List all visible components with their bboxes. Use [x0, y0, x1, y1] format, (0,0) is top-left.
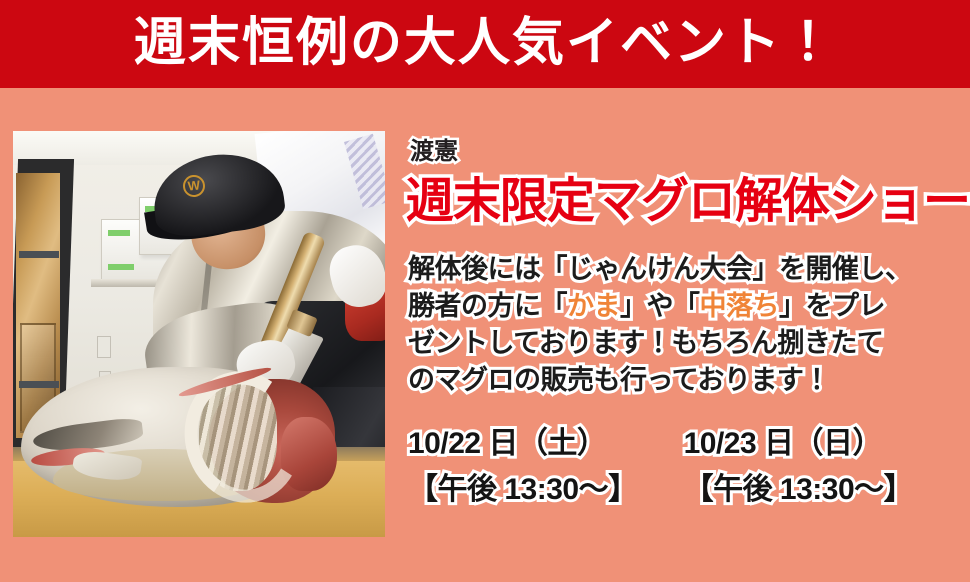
event-time: 【午後 13:30〜】 [408, 467, 638, 513]
panel-green-label-1 [108, 230, 130, 236]
event-dates: 10/22 日（土）【午後 13:30〜】10/23 日（日）【午後 13:30… [408, 421, 966, 513]
description-line: ゼントしております！もちろん捌きたて [408, 325, 966, 362]
banner-title: 週末恒例の大人気イベント！ [134, 17, 836, 69]
highlight-term: 中落ち [700, 291, 780, 321]
date-block: 10/22 日（土）【午後 13:30〜】 [408, 421, 638, 513]
description-text: 」や「 [620, 291, 700, 321]
event-date: 10/23 日（日） [684, 421, 914, 467]
description-text: 」をプレ [779, 291, 885, 321]
event-description: 解体後には「じゃんけん大会」を開催し、勝者の方に「かま」や「中落ち」をプレゼント… [408, 251, 966, 399]
description-text: 解体後には「じゃんけん大会」を開催し、 [408, 254, 912, 284]
date-block: 10/23 日（日）【午後 13:30〜】 [684, 421, 914, 513]
door-crossbar-lower [19, 381, 59, 388]
description-text: のマグロの販売も行っております！ [408, 365, 830, 395]
promo-poster: 週末恒例の大人気イベント！ [0, 0, 970, 582]
brand-name: 渡憲 [410, 140, 966, 164]
wall-switch-upper [97, 336, 111, 358]
door-crossbar-upper [19, 251, 59, 258]
event-title: 週末限定マグロ解体ショー [406, 178, 966, 226]
tuna-cutting-photo: W [13, 131, 385, 537]
description-text: ゼントしております！もちろん捌きたて [408, 328, 883, 358]
description-line: のマグロの販売も行っております！ [408, 362, 966, 399]
description-line: 勝者の方に「かま」や「中落ち」をプレ [408, 288, 966, 325]
description-line: 解体後には「じゃんけん大会」を開催し、 [408, 251, 966, 288]
description-text: 勝者の方に「 [408, 291, 567, 321]
event-time: 【午後 13:30〜】 [684, 467, 914, 513]
panel-green-label-2 [108, 264, 134, 270]
info-column: 渡憲 週末限定マグロ解体ショー 解体後には「じゃんけん大会」を開催し、勝者の方に… [406, 131, 966, 513]
event-date: 10/22 日（土） [408, 421, 638, 467]
plastic-pattern [344, 134, 385, 210]
highlight-term: かま [567, 291, 620, 321]
header-banner: 週末恒例の大人気イベント！ [0, 0, 970, 88]
photo-scene: W [13, 131, 385, 537]
